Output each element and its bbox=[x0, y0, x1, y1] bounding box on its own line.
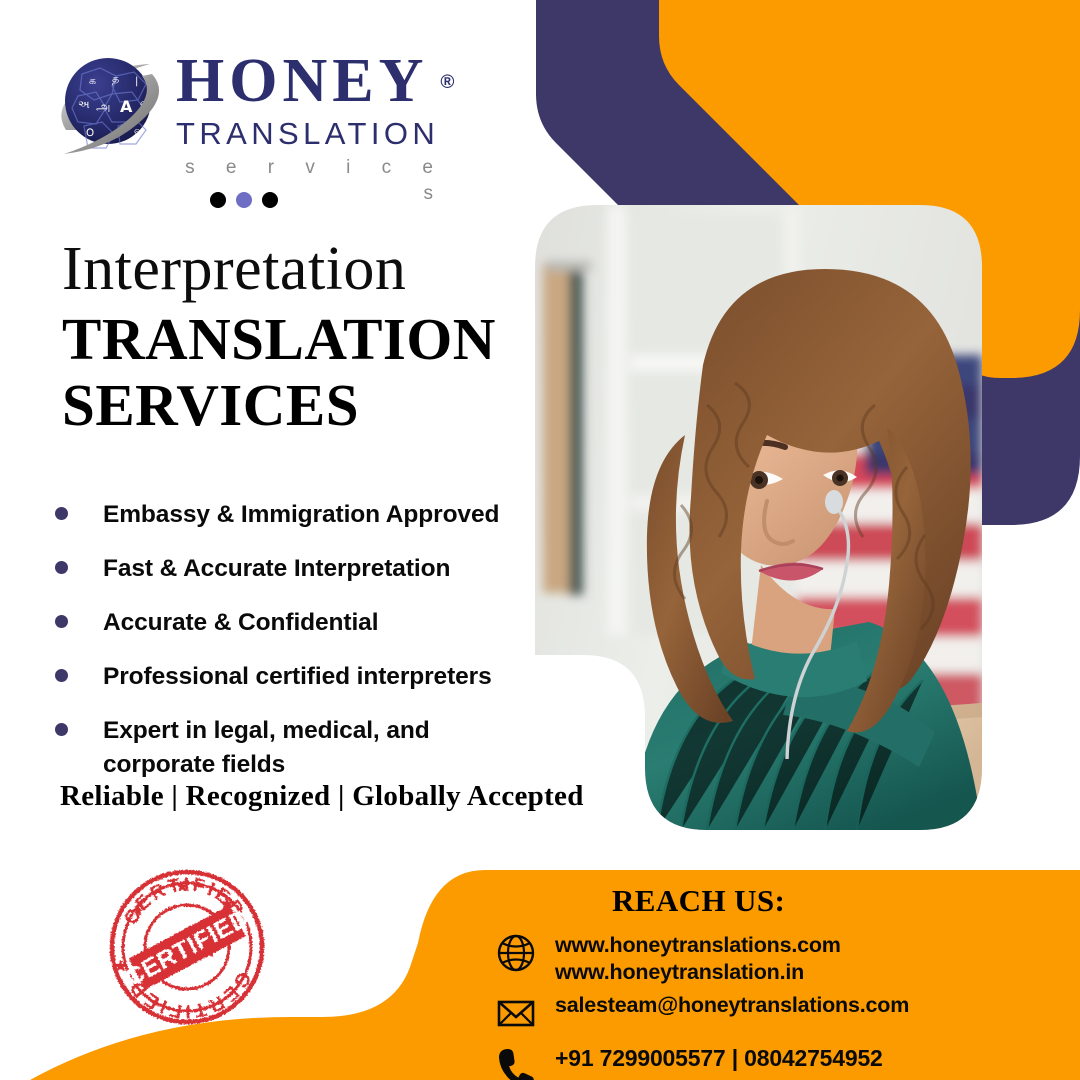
bullet-icon bbox=[55, 507, 68, 520]
dot-1 bbox=[210, 192, 226, 208]
svg-text:A: A bbox=[120, 97, 133, 116]
feature-text: Fast & Accurate Interpretation bbox=[103, 552, 450, 586]
email-address[interactable]: salesteam@honeytranslations.com bbox=[555, 992, 909, 1019]
dot-separator bbox=[210, 192, 278, 208]
dot-2 bbox=[236, 192, 252, 208]
dot-3 bbox=[262, 192, 278, 208]
contact-title: REACH US: bbox=[612, 883, 785, 919]
svg-text:|: | bbox=[135, 76, 138, 87]
logo-brand-name: HONEY ® bbox=[176, 50, 428, 112]
bullet-icon bbox=[55, 669, 68, 682]
bullet-icon bbox=[55, 615, 68, 628]
envelope-icon bbox=[495, 992, 537, 1034]
tagline: Reliable | Recognized | Globally Accepte… bbox=[60, 780, 584, 813]
list-item: Accurate & Confidential bbox=[55, 606, 525, 640]
email-row[interactable]: salesteam@honeytranslations.com bbox=[495, 992, 909, 1034]
svg-text:அ: அ bbox=[96, 100, 110, 115]
feature-list: Embassy & Immigration Approved Fast & Ac… bbox=[55, 498, 525, 802]
headline-line-2: SERVICES bbox=[62, 372, 496, 438]
svg-text:અ: અ bbox=[78, 98, 90, 111]
feature-text: Professional certified interpreters bbox=[103, 660, 492, 694]
website-secondary[interactable]: www.honeytranslation.in bbox=[555, 959, 841, 986]
feature-text: Accurate & Confidential bbox=[103, 606, 378, 640]
bullet-icon bbox=[55, 561, 68, 574]
phone-row[interactable]: +91 7299005577 | 08042754952 bbox=[495, 1045, 883, 1080]
headline-script: Interpretation bbox=[62, 236, 406, 302]
list-item: Professional certified interpreters bbox=[55, 660, 525, 694]
poster-canvas: க த | અ அ A ஓ ౦ ம வ HONEY ® TRANSLATION … bbox=[0, 0, 1080, 1080]
page-title: TRANSLATION SERVICES bbox=[62, 306, 496, 438]
website-primary[interactable]: www.honeytranslations.com bbox=[555, 932, 841, 959]
globe-icon bbox=[495, 932, 537, 974]
logo-wordmark: HONEY ® TRANSLATION s e r v i c e s bbox=[176, 50, 452, 207]
registered-trademark-icon: ® bbox=[440, 52, 454, 114]
svg-text:வ: வ bbox=[134, 126, 144, 137]
brand-logo[interactable]: க த | અ அ A ஓ ౦ ம வ HONEY ® TRANSLATION … bbox=[52, 44, 452, 169]
svg-text:த: த bbox=[112, 72, 119, 85]
website-row[interactable]: www.honeytranslations.com www.honeytrans… bbox=[495, 932, 841, 986]
list-item: Fast & Accurate Interpretation bbox=[55, 552, 525, 586]
contact-info: REACH US: www.honeytranslations.com www.… bbox=[415, 870, 1080, 1080]
phone-icon bbox=[495, 1045, 537, 1080]
list-item: Embassy & Immigration Approved bbox=[55, 498, 525, 532]
feature-text: Embassy & Immigration Approved bbox=[103, 498, 499, 532]
hero-photo bbox=[535, 205, 982, 830]
globe-languages-icon: க த | અ அ A ஓ ౦ ம வ bbox=[52, 44, 170, 164]
svg-text:౦: ౦ bbox=[86, 125, 94, 139]
svg-text:க: க bbox=[89, 74, 96, 87]
phone-numbers[interactable]: +91 7299005577 | 08042754952 bbox=[555, 1045, 883, 1072]
logo-line-translation: TRANSLATION bbox=[176, 114, 452, 154]
bullet-icon bbox=[55, 723, 68, 736]
feature-text: Expert in legal, medical, and corporate … bbox=[103, 714, 463, 782]
list-item: Expert in legal, medical, and corporate … bbox=[55, 714, 525, 782]
headline-line-1: TRANSLATION bbox=[62, 306, 496, 372]
